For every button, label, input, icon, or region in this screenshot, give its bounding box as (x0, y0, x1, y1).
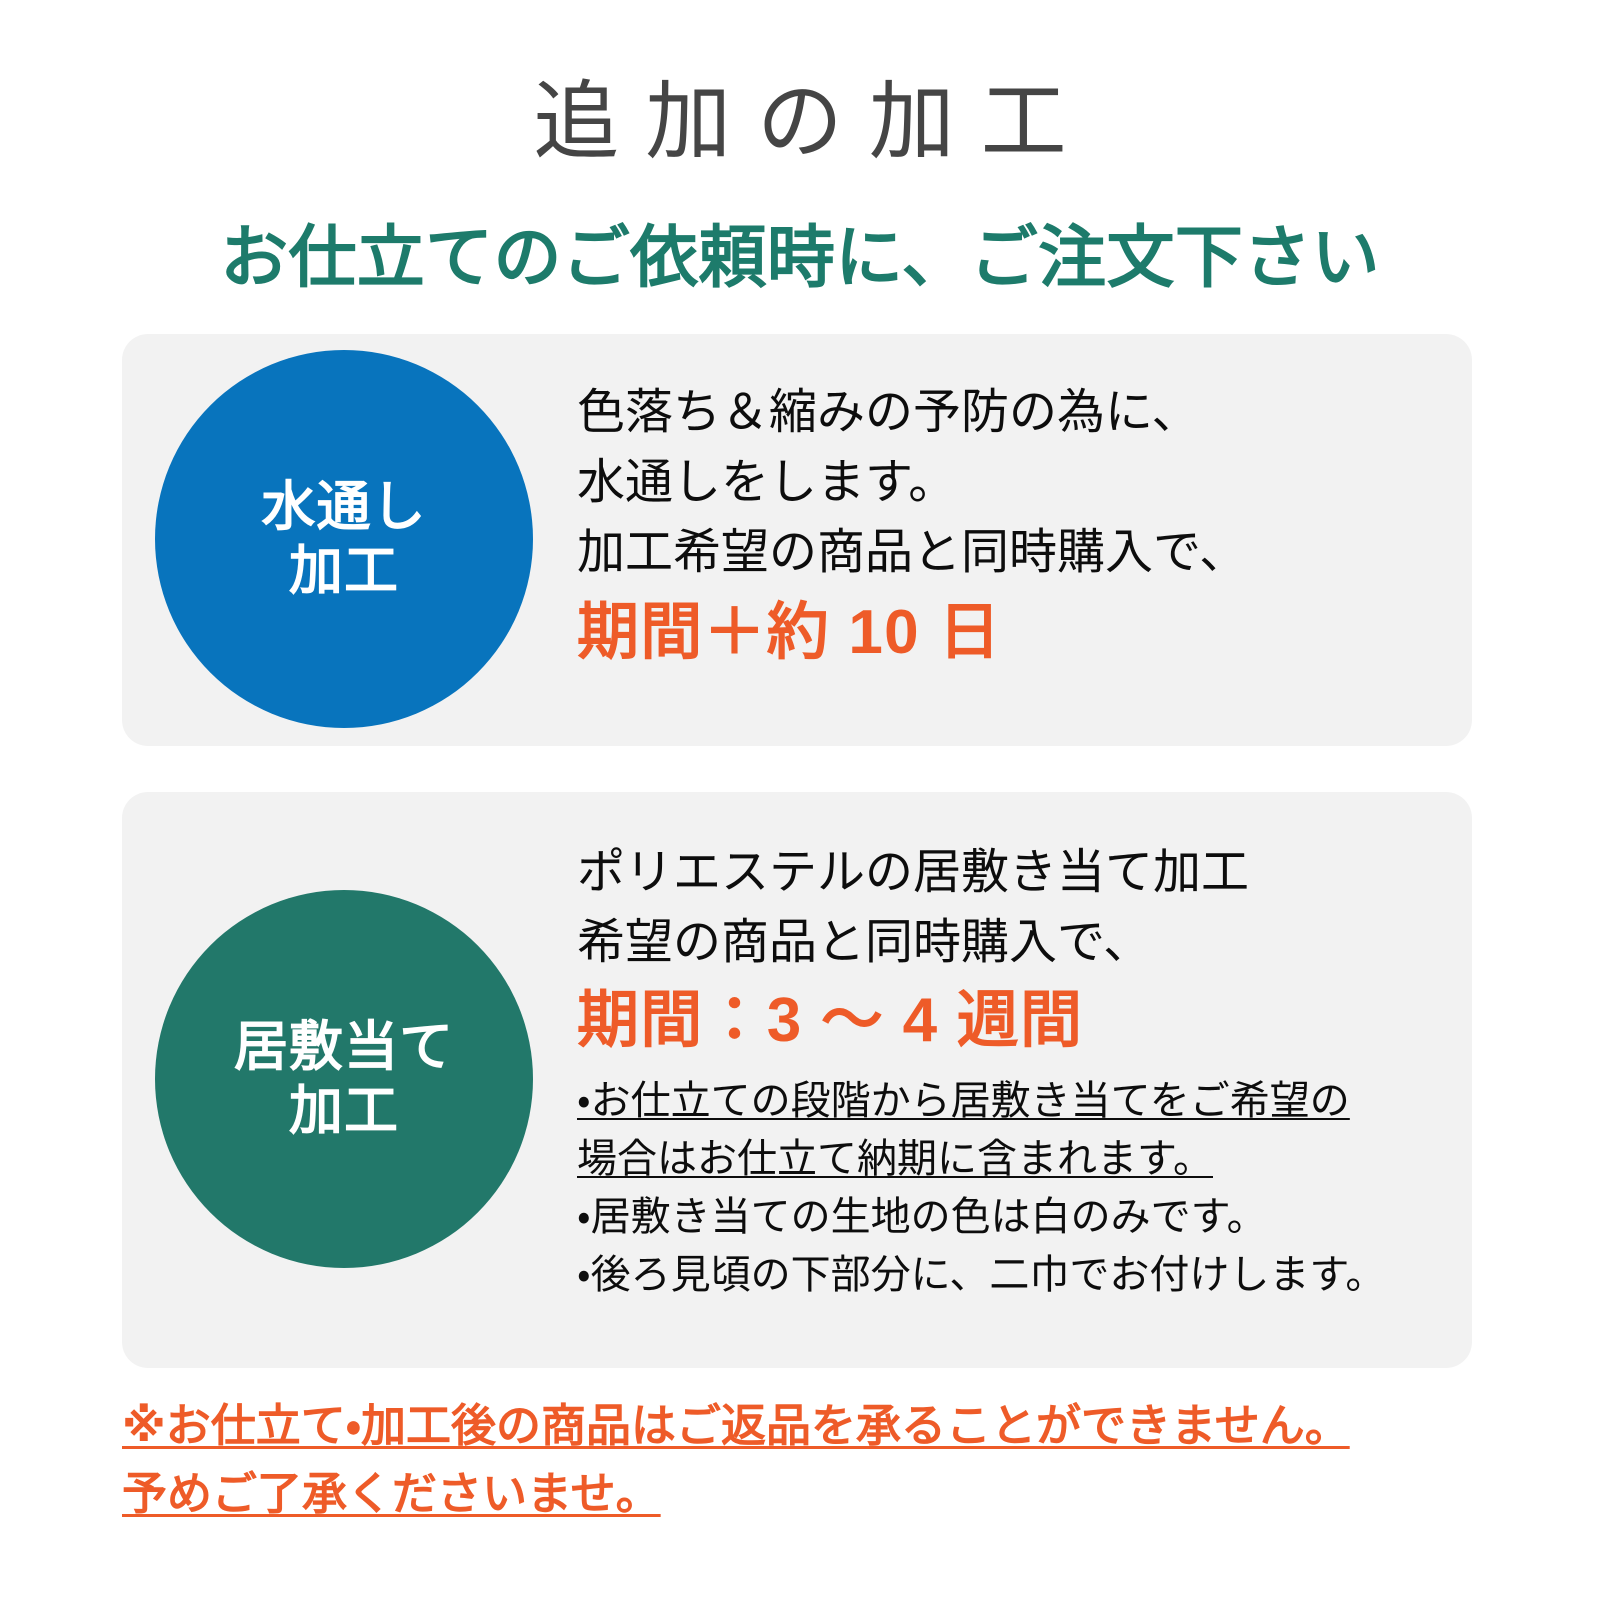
panel-ishiki-body: ポリエステルの居敷き当て加工 希望の商品と同時購入で、 期間：3 ～ 4 週間 … (577, 838, 1448, 1304)
panel-ishiki-line-2: 希望の商品と同時購入で、 (577, 908, 1448, 978)
panel-mizutoshi-line-3: 加工希望の商品と同時購入で、 (577, 518, 1448, 588)
page-subtitle: お仕立てのご依頼時に、ご注文下さい (0, 218, 1600, 298)
badge-mizutoshi: 水通し 加工 (155, 350, 533, 728)
page-title: 追加の加工 (0, 72, 1600, 172)
footer-notice-line-2: 予めご了承くださいませ。 (122, 1460, 661, 1528)
badge-mizutoshi-line1: 水通し (261, 475, 426, 539)
panel-mizutoshi-body: 色落ち＆縮みの予防の為に、 水通しをします。 加工希望の商品と同時購入で、 期間… (577, 378, 1448, 674)
badge-ishiki-line2: 加工 (289, 1079, 399, 1143)
panel-mizutoshi-highlight: 期間＋約 10 日 (577, 592, 1448, 674)
panel-mizutoshi-processing: 水通し 加工 色落ち＆縮みの予防の為に、 水通しをします。 加工希望の商品と同時… (122, 334, 1472, 746)
panel-mizutoshi-line-1: 色落ち＆縮みの予防の為に、 (577, 378, 1448, 448)
footer-return-policy-notice: ※お仕立て・加工後の商品はご返品を承ることができません。 予めご了承くださいませ… (122, 1392, 1522, 1528)
badge-mizutoshi-line2: 加工 (289, 539, 399, 603)
panel-ishiki-note-2: 場合はお仕立て納期に含まれます。 (577, 1130, 1448, 1188)
panel-ishiki-line-1: ポリエステルの居敷き当て加工 (577, 838, 1448, 908)
badge-ishiki-line1: 居敷当て (234, 1015, 454, 1079)
panel-mizutoshi-line-2: 水通しをします。 (577, 448, 1448, 518)
panel-ishiki-processing: 居敷当て 加工 ポリエステルの居敷き当て加工 希望の商品と同時購入で、 期間：3… (122, 792, 1472, 1368)
panel-ishiki-highlight: 期間：3 ～ 4 週間 (577, 980, 1448, 1062)
footer-notice-line-1: ※お仕立て・加工後の商品はご返品を承ることができません。 (122, 1392, 1350, 1460)
panel-ishiki-note-4: ・後ろ見頃の下部分に、二巾でお付けします。 (577, 1246, 1448, 1304)
panel-ishiki-note-3: ・居敷き当ての生地の色は白のみです。 (577, 1188, 1448, 1246)
badge-ishiki: 居敷当て 加工 (155, 890, 533, 1268)
panel-ishiki-note-1: ・お仕立ての段階から居敷き当てをご希望の (577, 1072, 1448, 1130)
